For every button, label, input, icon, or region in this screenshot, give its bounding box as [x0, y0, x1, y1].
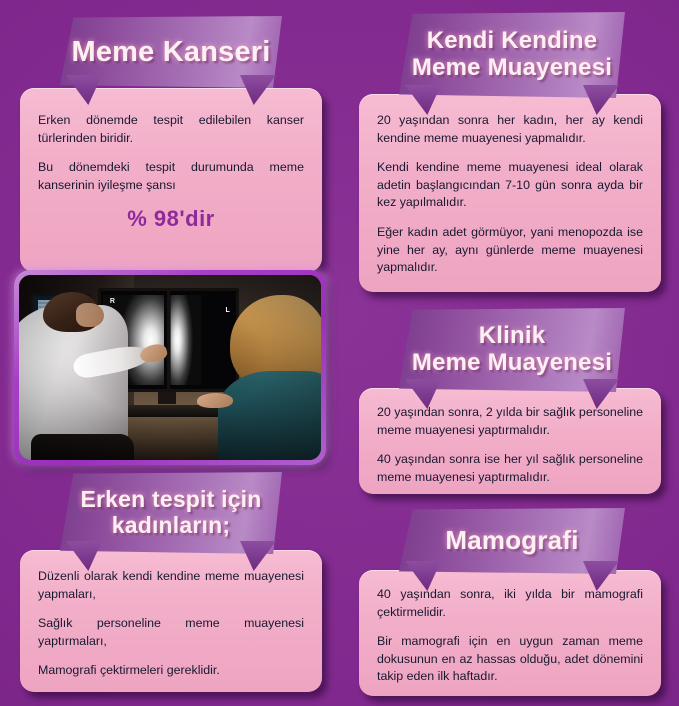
paragraph: 20 yaşından sonra her kadın, her ay kend…: [377, 112, 643, 147]
paragraph: Mamografi çektirmeleri gereklidir.: [38, 662, 304, 680]
card-klinik: 20 yaşından sonra, 2 yılda bir sağlık pe…: [359, 388, 661, 494]
highlight-stat: % 98'dir: [38, 206, 304, 232]
banner-klinik: Klinik Meme Muayenesi: [355, 308, 669, 392]
banner-kendi-kendine: Kendi Kendine Meme Muayenesi: [355, 12, 669, 98]
panel-title: Klinik Meme Muayenesi: [355, 308, 669, 392]
ribbon-plate: [60, 472, 282, 554]
title-line: Kendi Kendine: [427, 28, 598, 55]
title-line: Meme Muayenesi: [412, 55, 612, 82]
title-line: kadınların;: [112, 513, 231, 539]
paragraph: 40 yaşından sonra, iki yılda bir mamogra…: [377, 586, 643, 621]
title-line: Klinik: [479, 323, 546, 350]
paragraph: Düzenli olarak kendi kendine meme muayen…: [38, 568, 304, 603]
paragraph: Bir mamografi için en uygun zaman meme d…: [377, 633, 643, 686]
card-kendi-kendine: 20 yaşından sonra her kadın, her ay kend…: [359, 94, 661, 292]
title-line: Erken tespit için: [80, 487, 261, 513]
photo-doctor-patient-mammogram: R L: [19, 275, 321, 460]
banner-mamografi: Mamografi: [355, 508, 669, 574]
card-mamografi: 40 yaşından sonra, iki yılda bir mamogra…: [359, 570, 661, 696]
ribbon-plate: [399, 308, 625, 392]
panel-title: Mamografi: [355, 508, 669, 574]
paragraph: 40 yaşından sonra ise her yıl sağlık per…: [377, 451, 643, 486]
title-line: Meme Kanseri: [71, 36, 270, 68]
paragraph: Bu dönemdeki tespit durumunda meme kanse…: [38, 159, 304, 194]
panel-title: Kendi Kendine Meme Muayenesi: [355, 12, 669, 98]
panel-meme-kanseri: Erken dönemde tespit edilebilen kanser t…: [6, 16, 336, 258]
paragraph: Eğer kadın adet görmüyor, yani menopozda…: [377, 224, 643, 277]
photo-vignette: [19, 275, 321, 460]
card-meme-kanseri: Erken dönemde tespit edilebilen kanser t…: [20, 88, 322, 272]
paragraph: Sağlık personeline meme muayenesi yaptır…: [38, 615, 304, 650]
ribbon-plate: [399, 12, 625, 98]
photo-frame: R L: [14, 270, 326, 465]
banner-meme-kanseri: Meme Kanseri: [16, 16, 326, 88]
paragraph: Kendi kendine meme muayenesi ideal olara…: [377, 159, 643, 212]
panel-title: Erken tespit için kadınların;: [16, 472, 326, 554]
title-line: Mamografi: [445, 526, 578, 555]
panel-mamografi: 40 yaşından sonra, iki yılda bir mamogra…: [345, 508, 675, 698]
paragraph: 20 yaşından sonra, 2 yılda bir sağlık pe…: [377, 404, 643, 439]
card-erken-tespit: Düzenli olarak kendi kendine meme muayen…: [20, 550, 322, 692]
panel-erken-tespit: Düzenli olarak kendi kendine meme muayen…: [6, 472, 336, 698]
banner-erken-tespit: Erken tespit için kadınların;: [16, 472, 326, 554]
paragraph: Erken dönemde tespit edilebilen kanser t…: [38, 112, 304, 147]
panel-klinik: 20 yaşından sonra, 2 yılda bir sağlık pe…: [345, 308, 675, 498]
title-line: Meme Muayenesi: [412, 350, 612, 377]
ribbon-plate: [60, 16, 282, 88]
infographic-root: Erken dönemde tespit edilebilen kanser t…: [0, 0, 679, 706]
ribbon-plate: [399, 508, 625, 574]
panel-title: Meme Kanseri: [16, 16, 326, 88]
panel-kendi-kendine: 20 yaşından sonra her kadın, her ay kend…: [345, 12, 675, 298]
